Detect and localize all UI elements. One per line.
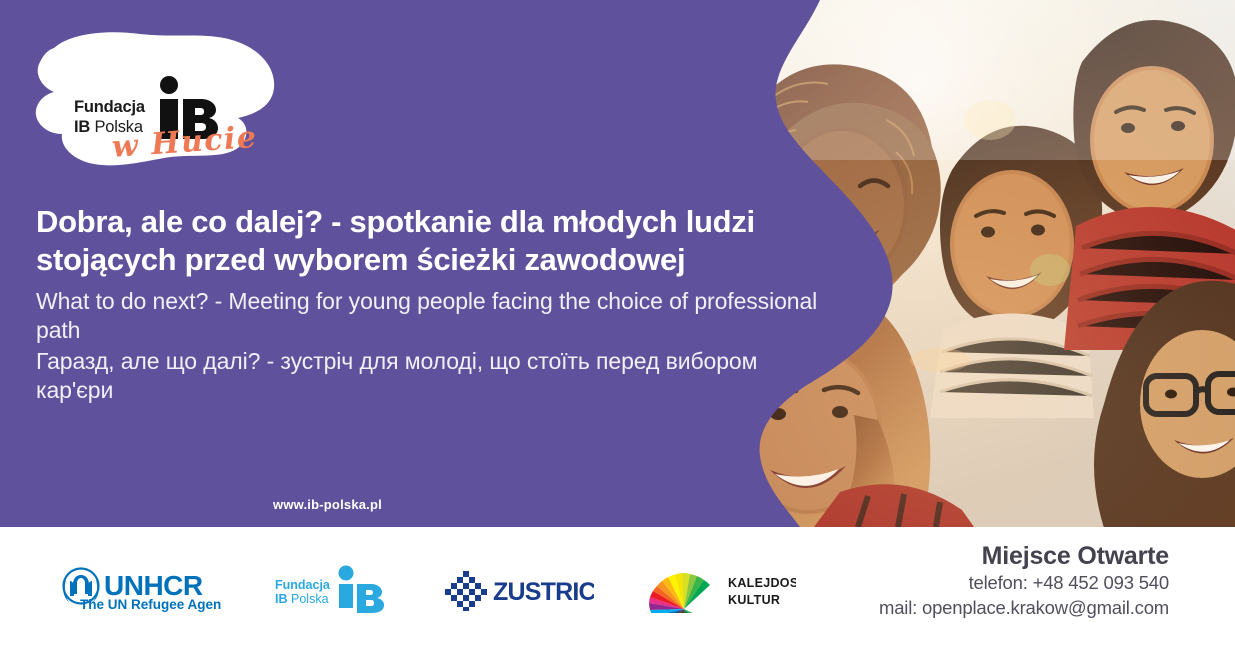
kalejdoskop-kultur-logo: KALEJDOSKOP KULTUR (648, 565, 796, 613)
footer-bar: UNHCR The UN Refugee Agency Fundacja IB … (0, 527, 1235, 650)
fundacja-ib-polska-logo: Fundacja IB Polska (275, 564, 385, 614)
svg-text:KULTUR: KULTUR (728, 593, 780, 607)
badge-line-fundacja: Fundacja (74, 97, 145, 118)
headline-pl: Dobra, ale co dalej? - spotkanie dla mło… (36, 203, 826, 279)
badge-line-ib: IB (74, 118, 90, 136)
svg-text:Polska: Polska (291, 592, 329, 606)
svg-text:KALEJDOSKOP: KALEJDOSKOP (728, 576, 796, 590)
contact-org-name: Miejsce Otwarte (879, 541, 1169, 571)
headline-en: What to do next? - Meeting for young peo… (36, 287, 826, 345)
zustricz-logo: ZUSTRICZ (439, 567, 594, 611)
svg-text:IB: IB (275, 592, 288, 606)
website-url[interactable]: www.ib-polska.pl (0, 497, 1235, 512)
partner-logos: UNHCR The UN Refugee Agency Fundacja IB … (0, 564, 796, 614)
unhcr-logo: UNHCR The UN Refugee Agency (58, 566, 221, 612)
fundacja-ib-polska-badge: Fundacja IB Polska w Hucie (24, 26, 286, 174)
contact-phone[interactable]: telefon: +48 452 093 540 (879, 571, 1169, 596)
headline-block: Dobra, ale co dalej? - spotkanie dla mło… (36, 203, 826, 405)
poster-canvas: Fundacja IB Polska w Hucie Dobra, ale co… (0, 0, 1235, 650)
contact-block: Miejsce Otwarte telefon: +48 452 093 540… (879, 541, 1169, 621)
headline-ua: Гаразд, але що далі? - зустріч для молод… (36, 347, 826, 405)
svg-text:ZUSTRICZ: ZUSTRICZ (493, 578, 594, 606)
svg-text:The UN Refugee Agency: The UN Refugee Agency (80, 597, 221, 612)
svg-text:Fundacja: Fundacja (275, 578, 331, 592)
contact-mail[interactable]: mail: openplace.krakow@gmail.com (879, 596, 1169, 621)
